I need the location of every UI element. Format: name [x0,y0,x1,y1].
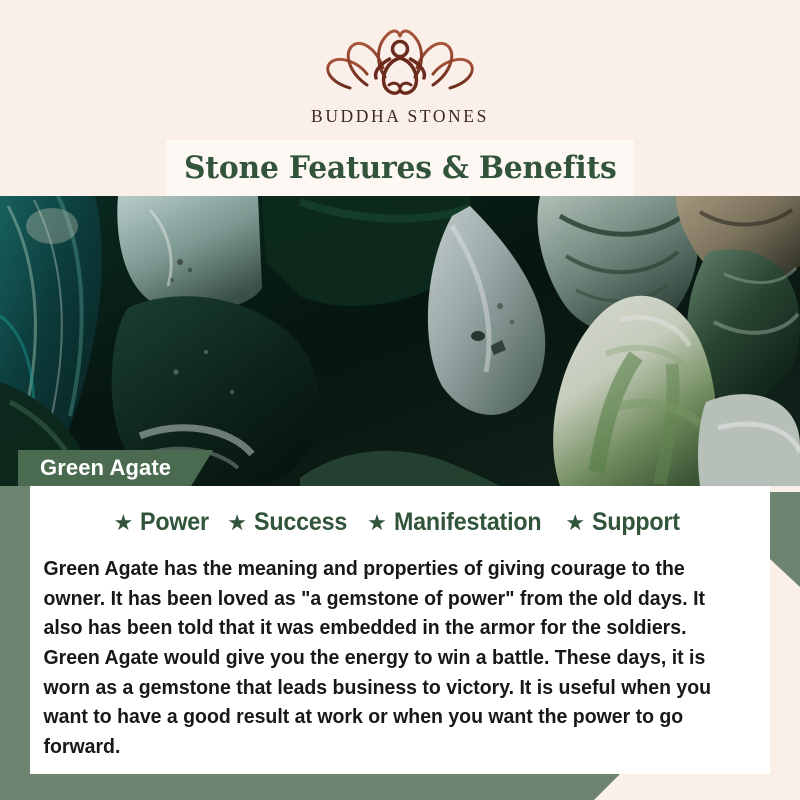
brand-logo: BUDDHA STONES [0,22,800,127]
benefit-item: ★ Support [565,508,686,537]
stone-name-badge: Green Agate [18,450,213,486]
stone-photo: Green Agate [0,196,800,486]
page-title: Stone Features & Benefits [184,150,617,186]
lotus-meditation-icon [315,22,485,102]
bottom-accent-strip [0,774,620,800]
benefit-label: Power [140,508,209,537]
infographic-card: BUDDHA STONES Stone Features & Benefits [0,0,800,800]
stone-description: Green Agate has the meaning and properti… [30,537,744,763]
benefit-item: ★ Power [114,508,215,537]
benefit-item: ★ Manifestation [367,508,552,537]
star-icon: ★ [227,512,247,534]
benefits-list: ★ Power ★ Success ★ Manifestation ★ Supp… [30,486,770,537]
title-banner: Stone Features & Benefits [166,140,634,196]
benefit-label: Success [254,508,347,537]
benefit-label: Manifestation [394,508,541,537]
benefit-item: ★ Success [227,508,354,537]
star-icon: ★ [367,512,387,534]
content-panel: ★ Power ★ Success ★ Manifestation ★ Supp… [30,486,770,774]
stone-photo-illustration [0,196,800,486]
stone-name: Green Agate [40,455,171,481]
star-icon: ★ [565,512,585,534]
brand-name: BUDDHA STONES [311,106,489,127]
star-icon: ★ [114,512,134,534]
benefit-label: Support [592,508,680,537]
right-accent-tab [770,492,800,587]
header: BUDDHA STONES Stone Features & Benefits [0,0,800,196]
left-accent-strip [0,478,30,800]
